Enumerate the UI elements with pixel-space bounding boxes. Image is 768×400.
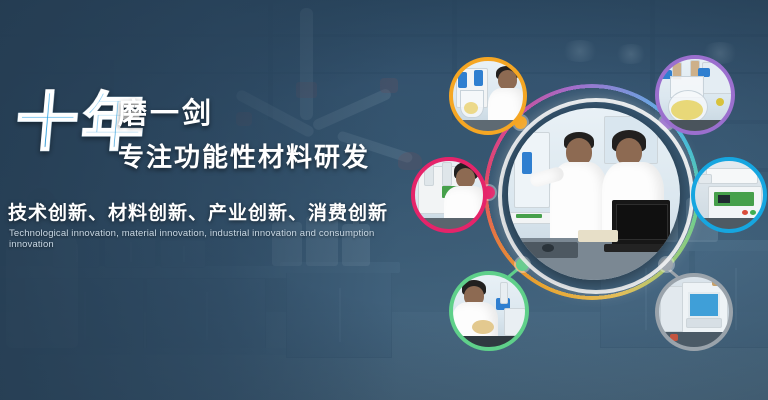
- blue-fixture: [522, 152, 532, 174]
- headline-row: 十年 磨一剑 专注功能性材料研发: [0, 98, 420, 184]
- headline-sub-bottom: 专注功能性材料研发: [118, 144, 370, 170]
- satellite-6-ring: [655, 273, 733, 351]
- laptop-screen: [616, 204, 668, 240]
- banner-root: 十年 磨一剑 专注功能性材料研发 技术创新、材料创新、产业创新、消费创新 Tec…: [0, 0, 768, 400]
- paper-documents: [578, 230, 618, 242]
- satellite-4-ring: [691, 157, 767, 233]
- center-photo-scene: [508, 108, 680, 280]
- tagline-english: Technological innovation, material innov…: [9, 228, 420, 250]
- headline-block: 十年 磨一剑 专注功能性材料研发 技术创新、材料创新、产业创新、消费创新 Tec…: [0, 98, 420, 184]
- mouse: [542, 244, 554, 252]
- satellite-5-ring: [449, 271, 529, 351]
- green-indicator: [516, 214, 542, 218]
- satellite-2-ring: [655, 55, 735, 135]
- headline-sub-top: 磨一剑: [118, 100, 214, 129]
- tagline-chinese: 技术创新、材料创新、产业创新、消费创新: [8, 198, 388, 225]
- satellite-1-ring: [449, 57, 527, 135]
- photo-circle-cluster: [398, 22, 760, 384]
- satellite-3-ring: [411, 157, 487, 233]
- center-photo-researchers: [508, 108, 680, 280]
- laptop-keyboard: [604, 244, 674, 252]
